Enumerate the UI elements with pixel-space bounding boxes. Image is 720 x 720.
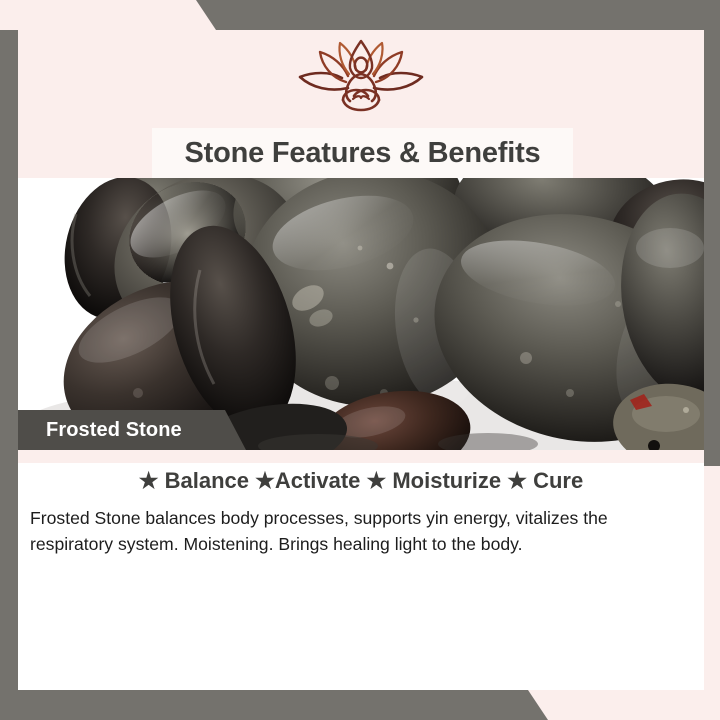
description-line-1: Frosted Stone balances body processes, s… — [30, 506, 694, 532]
lotus-meditation-figure-icon — [286, 38, 436, 112]
infographic-page: BUDDHA STONES Stone Features & Benefits — [0, 0, 720, 720]
photo-caption-label: Frosted Stone — [18, 419, 182, 442]
page-title: Stone Features & Benefits — [185, 137, 541, 170]
description-text: Frosted Stone balances body processes, s… — [30, 506, 694, 557]
description-line-2: respiratory system. Moistening. Brings h… — [30, 532, 694, 558]
accent-strip — [18, 450, 704, 463]
brand-logo — [18, 36, 704, 114]
frame-right-accent — [704, 0, 720, 466]
title-banner: Stone Features & Benefits — [152, 128, 573, 178]
frosted-stone-photo: Frosted Stone — [18, 178, 704, 450]
photo-caption-chip: Frosted Stone — [18, 410, 246, 450]
benefits-line: ★ Balance ★Activate ★ Moisturize ★ Cure — [18, 468, 704, 494]
stone-photo-illustration — [18, 178, 704, 450]
frame-left-accent — [0, 30, 18, 690]
